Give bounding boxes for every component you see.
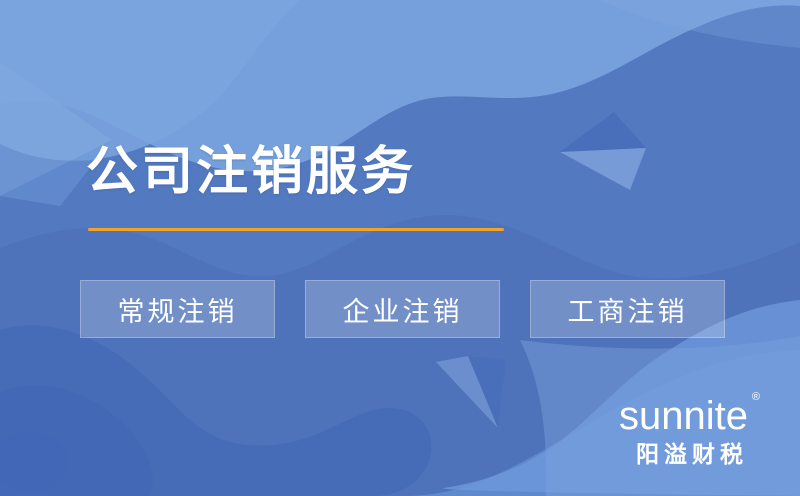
logo-chinese-name: 阳溢财税 bbox=[619, 440, 760, 468]
service-tag-business[interactable]: 工商注销 bbox=[530, 280, 725, 338]
page-title: 公司注销服务 bbox=[86, 140, 416, 204]
promo-banner: 公司注销服务 常规注销 企业注销 工商注销 sunnite ® 阳溢财税 bbox=[0, 0, 800, 496]
service-tag-regular[interactable]: 常规注销 bbox=[80, 280, 275, 338]
service-tag-row: 常规注销 企业注销 工商注销 bbox=[80, 280, 725, 338]
logo-wordmark: sunnite bbox=[619, 394, 748, 438]
service-tag-label: 工商注销 bbox=[568, 290, 688, 329]
service-tag-enterprise[interactable]: 企业注销 bbox=[305, 280, 500, 338]
logo-wordmark-wrap: sunnite ® bbox=[619, 394, 760, 438]
service-tag-label: 常规注销 bbox=[118, 290, 238, 329]
title-divider bbox=[88, 228, 504, 231]
banner-content: 公司注销服务 常规注销 企业注销 工商注销 sunnite ® 阳溢财税 bbox=[0, 0, 800, 496]
brand-logo: sunnite ® 阳溢财税 bbox=[619, 394, 760, 468]
registered-trademark-icon: ® bbox=[752, 392, 760, 403]
service-tag-label: 企业注销 bbox=[343, 290, 463, 329]
